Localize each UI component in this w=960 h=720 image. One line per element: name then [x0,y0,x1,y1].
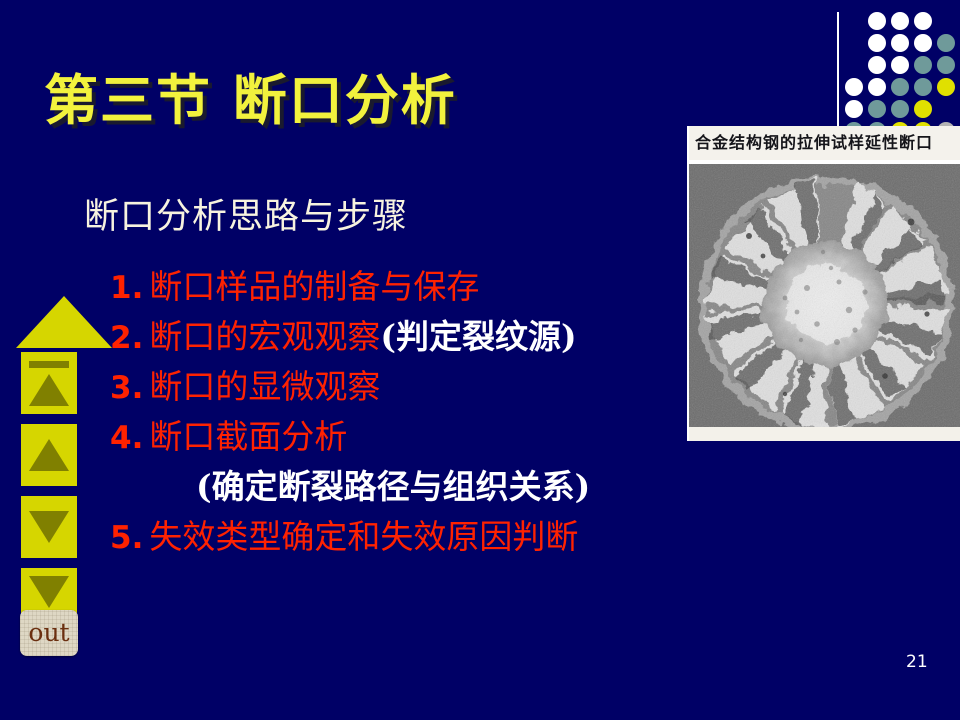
list-item-number: 1. [110,270,143,306]
list-item-text: 断口样品的制备与保存 [149,267,479,306]
figure-caption: 合金结构钢的拉伸试样延性断口 [689,126,960,160]
slide-canvas: 第三节 断口分析 断口分析思路与步骤 1.断口样品的制备与保存2.断口的宏观观察… [0,0,960,720]
decorative-dot [891,100,909,118]
decorative-dot [845,100,863,118]
first-slide-button[interactable] [21,352,77,414]
decorative-dot [891,78,909,96]
page-title: 第三节 断口分析 [44,56,457,135]
fractograph-photo [689,164,960,441]
fracture-surface-illustration [689,164,960,441]
decorative-dot [891,34,909,52]
exit-button[interactable]: out [20,610,78,656]
decorative-dot [914,56,932,74]
decorative-vertical-rule [837,12,839,129]
decorative-dot [891,12,909,30]
decorative-dot [914,78,932,96]
next-slide-button[interactable] [21,496,77,558]
nav-big-up-arrow-icon[interactable] [16,296,112,348]
decorative-dot [868,56,886,74]
decorative-dot [914,12,932,30]
list-item: 2.断口的宏观观察(判定裂纹源) [110,312,710,362]
down-triangle-icon [29,511,69,543]
decorative-dot [868,12,886,30]
decorative-dot [845,78,863,96]
decorative-dot [937,78,955,96]
analysis-steps-list: 1.断口样品的制备与保存2.断口的宏观观察(判定裂纹源)3.断口的显微观察4.断… [110,262,710,562]
list-item: 4.断口截面分析 [110,412,710,462]
list-item: 3.断口的显微观察 [110,362,710,412]
list-item-number: 3. [110,370,143,406]
down-triangle-icon [29,576,69,608]
list-item: 1.断口样品的制备与保存 [110,262,710,312]
list-item-text: 断口截面分析 [149,417,347,456]
up-triangle-icon [29,374,69,406]
decorative-dot-grid [845,12,960,130]
previous-slide-button[interactable] [21,424,77,486]
list-item-text: 失效类型确定和失效原因判断 [149,517,578,556]
decorative-dot [937,34,955,52]
list-item-text: 断口的显微观察 [149,367,380,406]
decorative-dot [868,78,886,96]
decorative-dot [914,100,932,118]
bar-icon [29,361,69,368]
list-item-number: 5. [110,520,143,556]
list-item-note: (确定断裂路径与组织关系) [196,467,590,506]
list-item-text: 断口的宏观观察 [149,317,380,356]
list-item-note: (判定裂纹源) [380,317,576,356]
list-item-number: 4. [110,420,143,456]
list-item-number: 2. [110,320,143,356]
decorative-dot [914,34,932,52]
section-subtitle: 断口分析思路与步骤 [84,188,408,239]
up-triangle-icon [29,439,69,471]
list-item: (确定断裂路径与组织关系) [110,462,710,512]
decorative-dot [891,56,909,74]
decorative-dot [868,100,886,118]
page-number: 21 [906,652,928,672]
fractograph-figure: 合金结构钢的拉伸试样延性断口 [687,126,960,441]
list-item: 5.失效类型确定和失效原因判断 [110,512,710,562]
decorative-dot [868,34,886,52]
decorative-dot [937,56,955,74]
